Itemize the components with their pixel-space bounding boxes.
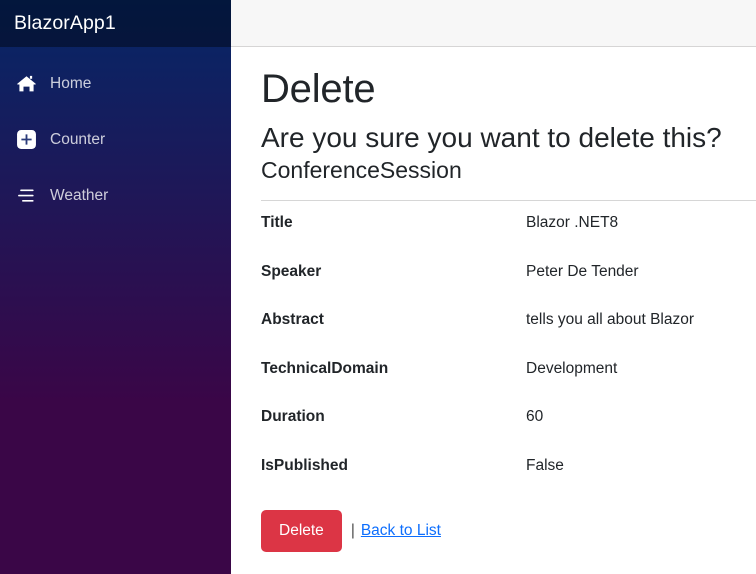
sidebar-item-weather[interactable]: Weather (0, 173, 231, 218)
detail-value-duration: 60 (526, 409, 756, 458)
sidebar-item-label-home: Home (50, 76, 91, 92)
detail-value-technicaldomain: Development (526, 361, 756, 410)
confirm-question: Are you sure you want to delete this? (261, 121, 756, 155)
detail-value-abstract: tells you all about Blazor (526, 312, 756, 361)
app-brand[interactable]: BlazorApp1 (14, 12, 116, 35)
action-separator: | (351, 522, 355, 540)
sidebar-brand-bar: BlazorApp1 (0, 0, 231, 47)
detail-value-title: Blazor .NET8 (526, 215, 756, 264)
sidebar-item-label-counter: Counter (50, 132, 105, 148)
sidebar-item-home[interactable]: Home (0, 61, 231, 106)
detail-label-speaker: Speaker (261, 264, 526, 313)
detail-value-speaker: Peter De Tender (526, 264, 756, 313)
detail-label-technicaldomain: TechnicalDomain (261, 361, 526, 410)
page-content: Delete Are you sure you want to delete t… (231, 47, 756, 574)
plus-square-icon (14, 128, 38, 152)
action-bar: Delete | Back to List (261, 510, 756, 552)
detail-label-duration: Duration (261, 409, 526, 458)
section-divider (261, 200, 756, 201)
detail-label-title: Title (261, 215, 526, 264)
sidebar-nav-list: Home Counter (0, 47, 231, 218)
entity-name: ConferenceSession (261, 157, 756, 185)
main-area: Delete Are you sure you want to delete t… (231, 0, 756, 574)
house-icon (14, 72, 38, 96)
top-row-bar (231, 0, 756, 47)
delete-button[interactable]: Delete (261, 510, 342, 552)
back-to-list-link[interactable]: Back to List (361, 522, 441, 540)
app-root: BlazorApp1 Home Co (0, 0, 756, 574)
list-nested-icon (14, 184, 38, 208)
detail-label-ispublished: IsPublished (261, 458, 526, 507)
sidebar-item-counter[interactable]: Counter (0, 117, 231, 162)
page-title: Delete (261, 65, 756, 113)
sidebar-item-label-weather: Weather (50, 188, 108, 204)
detail-value-ispublished: False (526, 458, 756, 507)
detail-label-abstract: Abstract (261, 312, 526, 361)
detail-list: Title Blazor .NET8 Speaker Peter De Tend… (261, 215, 756, 506)
sidebar: BlazorApp1 Home Co (0, 0, 231, 574)
